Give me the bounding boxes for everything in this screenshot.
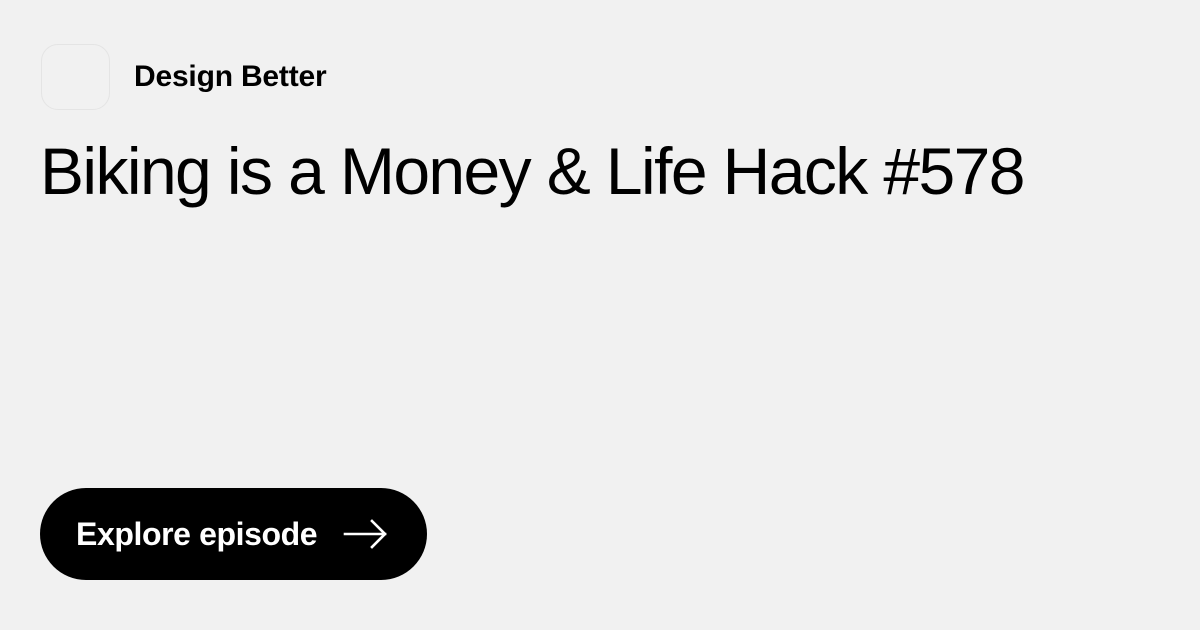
explore-episode-button[interactable]: Explore episode xyxy=(40,488,427,580)
explore-episode-label: Explore episode xyxy=(76,518,317,550)
episode-promo-card: Design Better Biking is a Money & Life H… xyxy=(0,0,1200,630)
episode-title: Biking is a Money & Life Hack #578 xyxy=(40,133,1160,209)
brand-name: Design Better xyxy=(134,62,326,92)
brand-logo-placeholder-icon xyxy=(41,44,110,110)
brand-row: Design Better xyxy=(41,44,326,110)
arrow-right-icon xyxy=(343,519,389,549)
